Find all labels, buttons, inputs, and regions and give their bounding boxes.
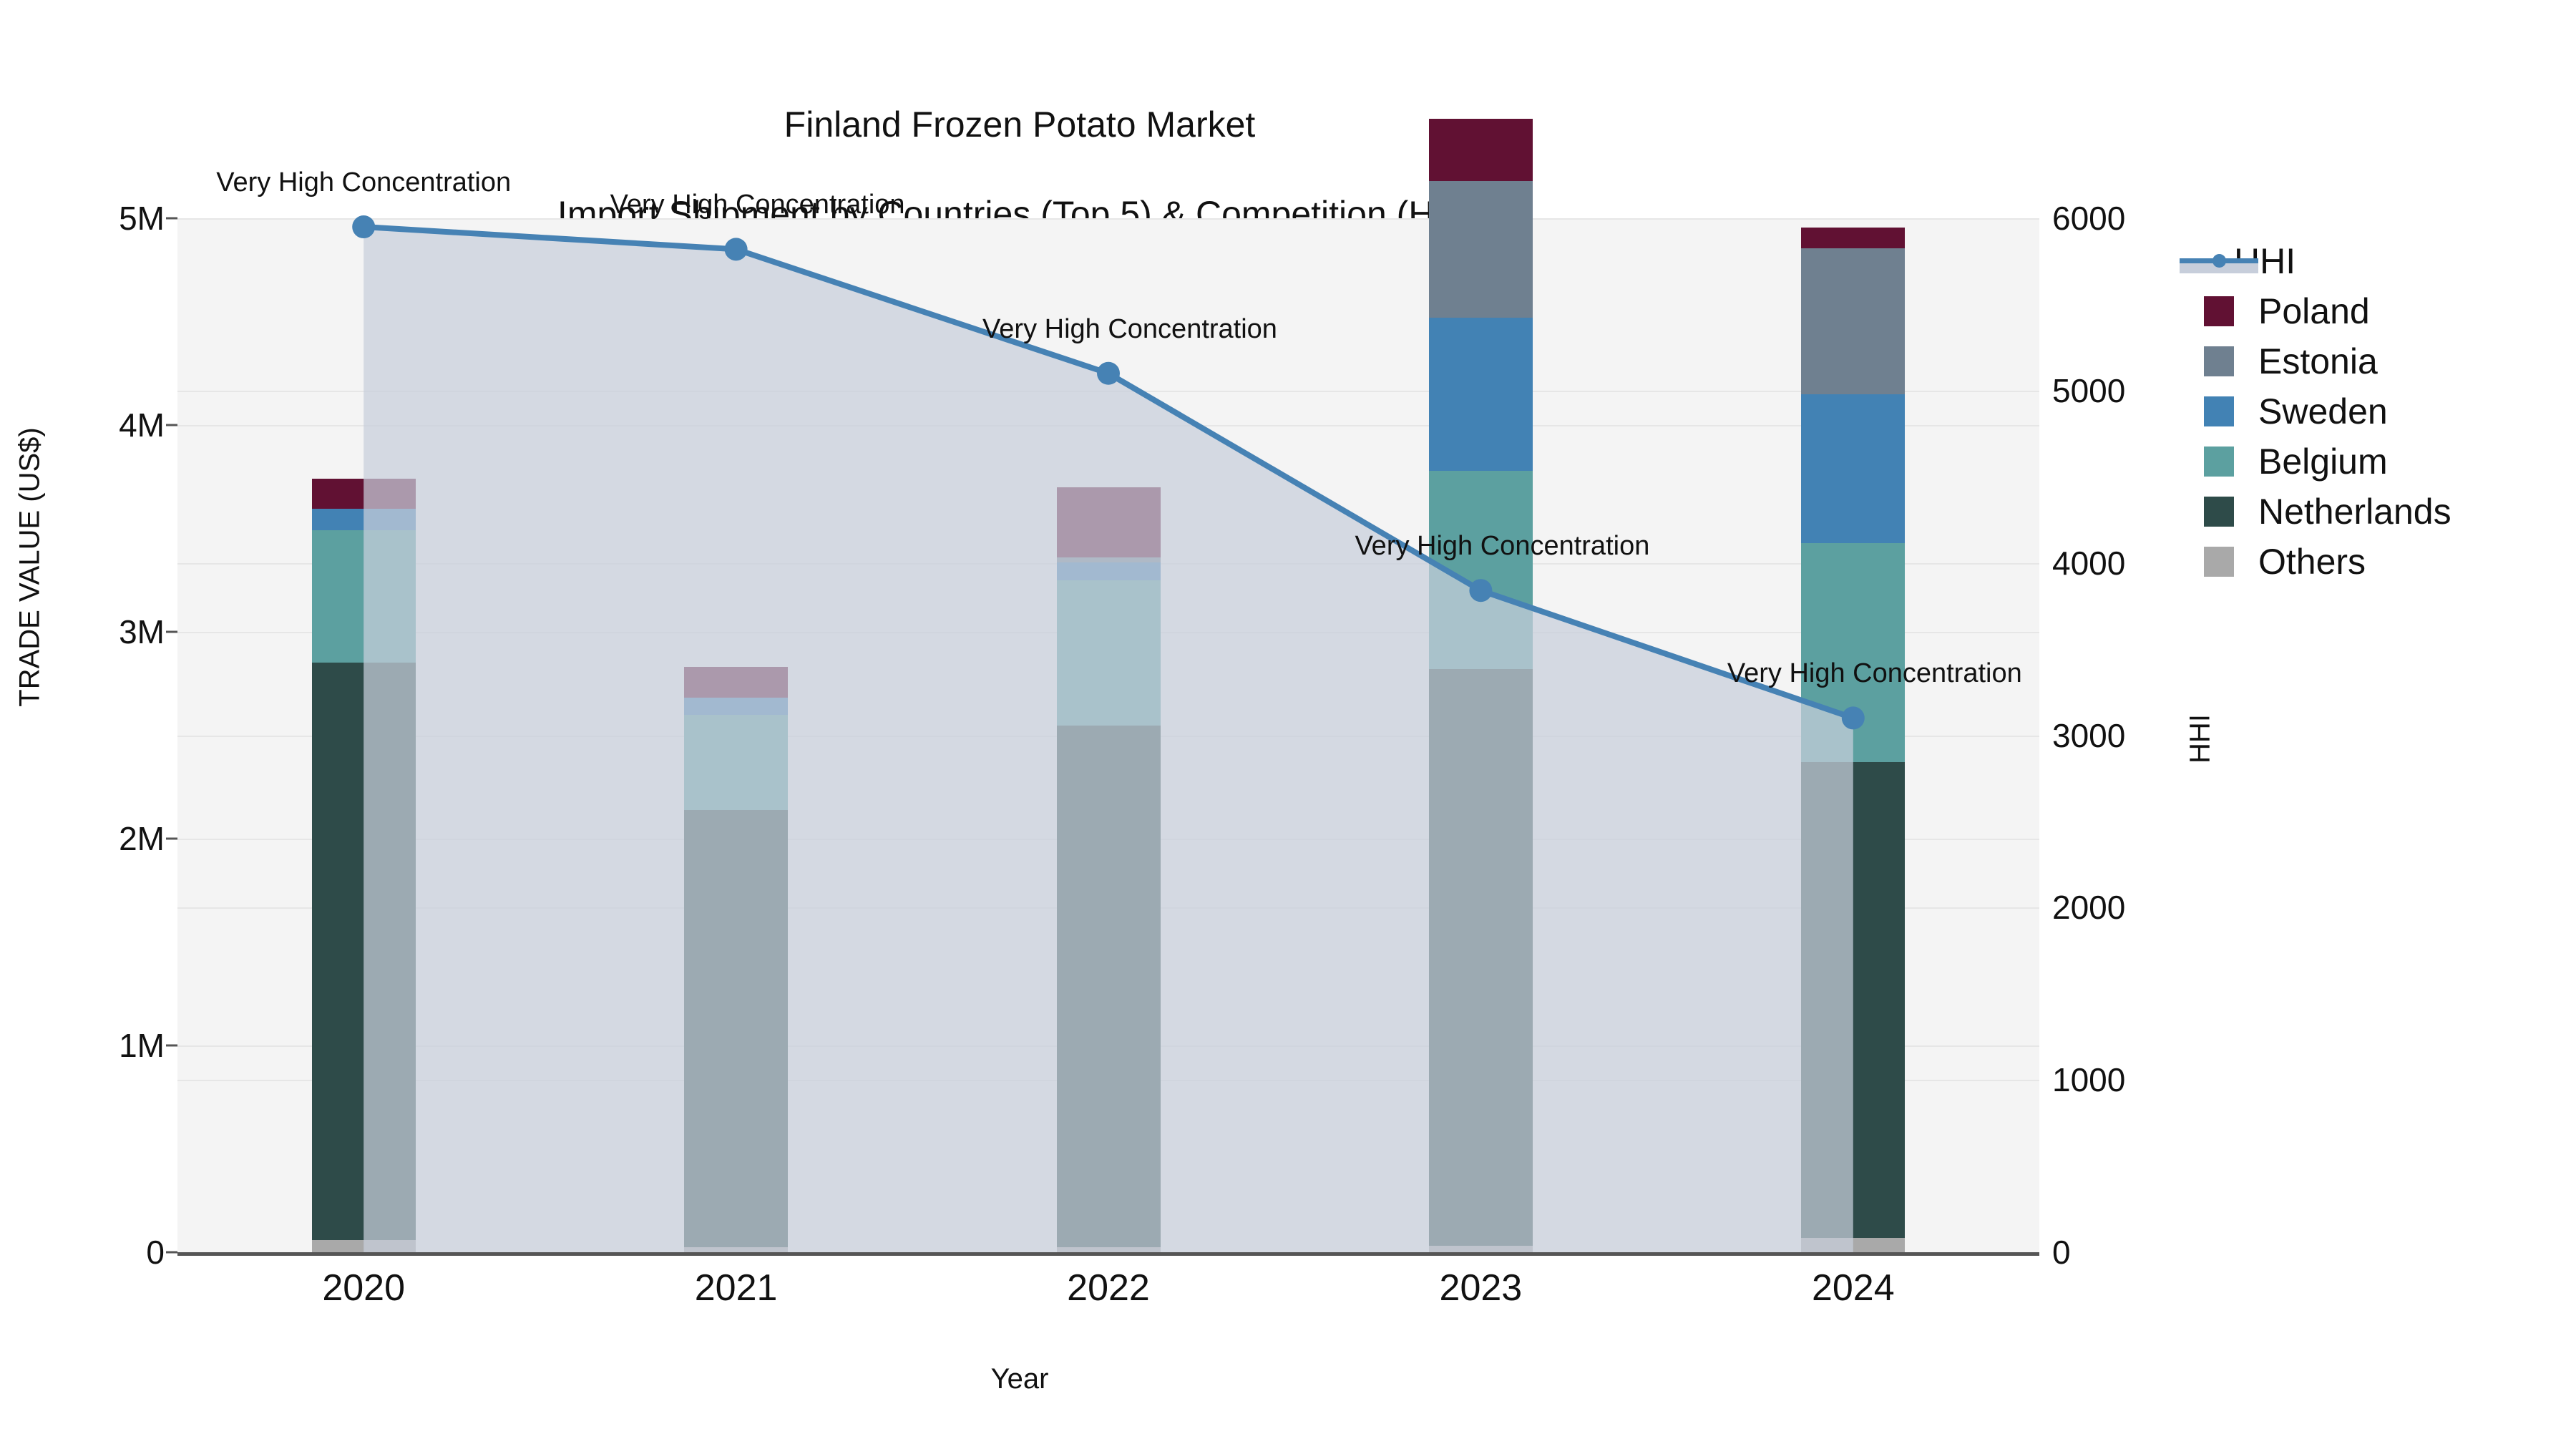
x-tick-label-2022: 2022 <box>965 1267 1252 1309</box>
y-axis-right-title: HHI <box>2185 668 2217 811</box>
annotation-2024: Very High Concentration <box>1727 658 2022 689</box>
y-tick-mark-left-0 <box>166 1252 177 1254</box>
chart-figure: Finland Frozen Potato Market Import Ship… <box>0 0 2576 1449</box>
legend-label-poland: Poland <box>2258 291 2370 332</box>
bar-segment-poland-2021[interactable] <box>684 667 788 698</box>
bar-segment-sweden-2022[interactable] <box>1057 562 1161 580</box>
legend-label-sweden: Sweden <box>2258 391 2388 432</box>
bar-segment-poland-2020[interactable] <box>312 479 416 509</box>
legend-swatch-belgium <box>2204 447 2234 477</box>
y-axis-left-title: TRADE VALUE (US$) <box>14 367 47 768</box>
legend-label-others: Others <box>2258 541 2366 582</box>
y-tick-mark-left-1 <box>166 1045 177 1047</box>
x-tick-label-2023: 2023 <box>1337 1267 1624 1309</box>
x-axis-spine <box>177 1252 2039 1256</box>
bar-segment-belgium-2020[interactable] <box>312 530 416 663</box>
y-tick-label-right-5: 5000 <box>2052 371 2217 410</box>
y-tick-mark-left-4 <box>166 424 177 426</box>
bar-segment-sweden-2024[interactable] <box>1801 394 1905 543</box>
x-tick-label-2020: 2020 <box>220 1267 507 1309</box>
legend-swatch-others <box>2204 547 2234 577</box>
y-tick-mark-left-3 <box>166 631 177 633</box>
y-tick-label-right-2: 2000 <box>2052 888 2217 927</box>
legend-line-marker-icon <box>2180 246 2258 276</box>
bar-segment-others-2023[interactable] <box>1429 1246 1533 1252</box>
bar-segment-belgium-2021[interactable] <box>684 715 788 810</box>
y-tick-label-left-2: 2M <box>36 819 165 858</box>
bar-segment-estonia-2022[interactable] <box>1057 557 1161 562</box>
bar-segment-poland-2023[interactable] <box>1429 119 1533 181</box>
gridline-right-5 <box>177 391 2039 392</box>
y-tick-mark-left-2 <box>166 838 177 840</box>
y-tick-label-right-6: 6000 <box>2052 199 2217 238</box>
legend-item-estonia[interactable]: Estonia <box>2204 336 2576 386</box>
bar-segment-poland-2022[interactable] <box>1057 487 1161 557</box>
legend-item-netherlands[interactable]: Netherlands <box>2204 487 2576 537</box>
annotation-2020: Very High Concentration <box>216 167 511 198</box>
bar-segment-poland-2024[interactable] <box>1801 228 1905 248</box>
gridline-left-4 <box>177 425 2039 426</box>
bar-segment-others-2024[interactable] <box>1801 1238 1905 1252</box>
chart-title-line-1: Finland Frozen Potato Market <box>0 102 2039 147</box>
bar-segment-sweden-2020[interactable] <box>312 509 416 530</box>
bar-segment-netherlands-2024[interactable] <box>1801 762 1905 1238</box>
bar-segment-netherlands-2022[interactable] <box>1057 726 1161 1246</box>
y-tick-label-right-1: 1000 <box>2052 1060 2217 1099</box>
bar-segment-others-2022[interactable] <box>1057 1247 1161 1252</box>
gridline-right-6 <box>177 218 2039 220</box>
bar-segment-belgium-2024[interactable] <box>1801 543 1905 762</box>
legend-item-hhi[interactable]: HHI <box>2204 236 2576 286</box>
legend-item-poland[interactable]: Poland <box>2204 286 2576 336</box>
legend-label-estonia: Estonia <box>2258 341 2378 382</box>
y-tick-label-left-4: 4M <box>36 406 165 444</box>
bar-segment-others-2021[interactable] <box>684 1247 788 1252</box>
legend-swatch-poland <box>2204 296 2234 326</box>
annotation-2021: Very High Concentration <box>610 190 905 220</box>
x-axis-title: Year <box>0 1363 2039 1395</box>
y-tick-label-right-0: 0 <box>2052 1233 2217 1272</box>
bar-segment-netherlands-2020[interactable] <box>312 663 416 1239</box>
bar-segment-sweden-2021[interactable] <box>684 698 788 714</box>
legend-swatch-estonia <box>2204 346 2234 376</box>
y-tick-label-right-4: 4000 <box>2052 544 2217 582</box>
y-tick-label-left-3: 3M <box>36 613 165 651</box>
legend-label-belgium: Belgium <box>2258 441 2388 482</box>
y-tick-label-left-0: 0 <box>36 1233 165 1272</box>
legend-swatch-netherlands <box>2204 497 2234 527</box>
x-tick-label-2021: 2021 <box>593 1267 879 1309</box>
bar-segment-sweden-2023[interactable] <box>1429 318 1533 471</box>
y-tick-mark-left-5 <box>166 218 177 220</box>
legend-swatch-sweden <box>2204 396 2234 426</box>
annotation-2022: Very High Concentration <box>982 314 1277 345</box>
y-tick-label-left-5: 5M <box>36 199 165 238</box>
legend-label-netherlands: Netherlands <box>2258 491 2451 532</box>
bar-segment-netherlands-2023[interactable] <box>1429 669 1533 1246</box>
legend-item-sweden[interactable]: Sweden <box>2204 386 2576 436</box>
legend-item-belgium[interactable]: Belgium <box>2204 436 2576 487</box>
bar-segment-estonia-2023[interactable] <box>1429 181 1533 318</box>
x-tick-label-2024: 2024 <box>1710 1267 1996 1309</box>
bar-segment-netherlands-2021[interactable] <box>684 810 788 1247</box>
bar-segment-belgium-2023[interactable] <box>1429 471 1533 669</box>
annotation-2023: Very High Concentration <box>1355 531 1649 562</box>
legend-item-others[interactable]: Others <box>2204 537 2576 587</box>
y-tick-label-left-1: 1M <box>36 1026 165 1065</box>
bar-segment-belgium-2022[interactable] <box>1057 580 1161 726</box>
chart-legend: HHIPolandEstoniaSwedenBelgiumNetherlands… <box>2204 236 2576 587</box>
bar-segment-others-2020[interactable] <box>312 1240 416 1252</box>
bar-segment-estonia-2024[interactable] <box>1801 248 1905 394</box>
